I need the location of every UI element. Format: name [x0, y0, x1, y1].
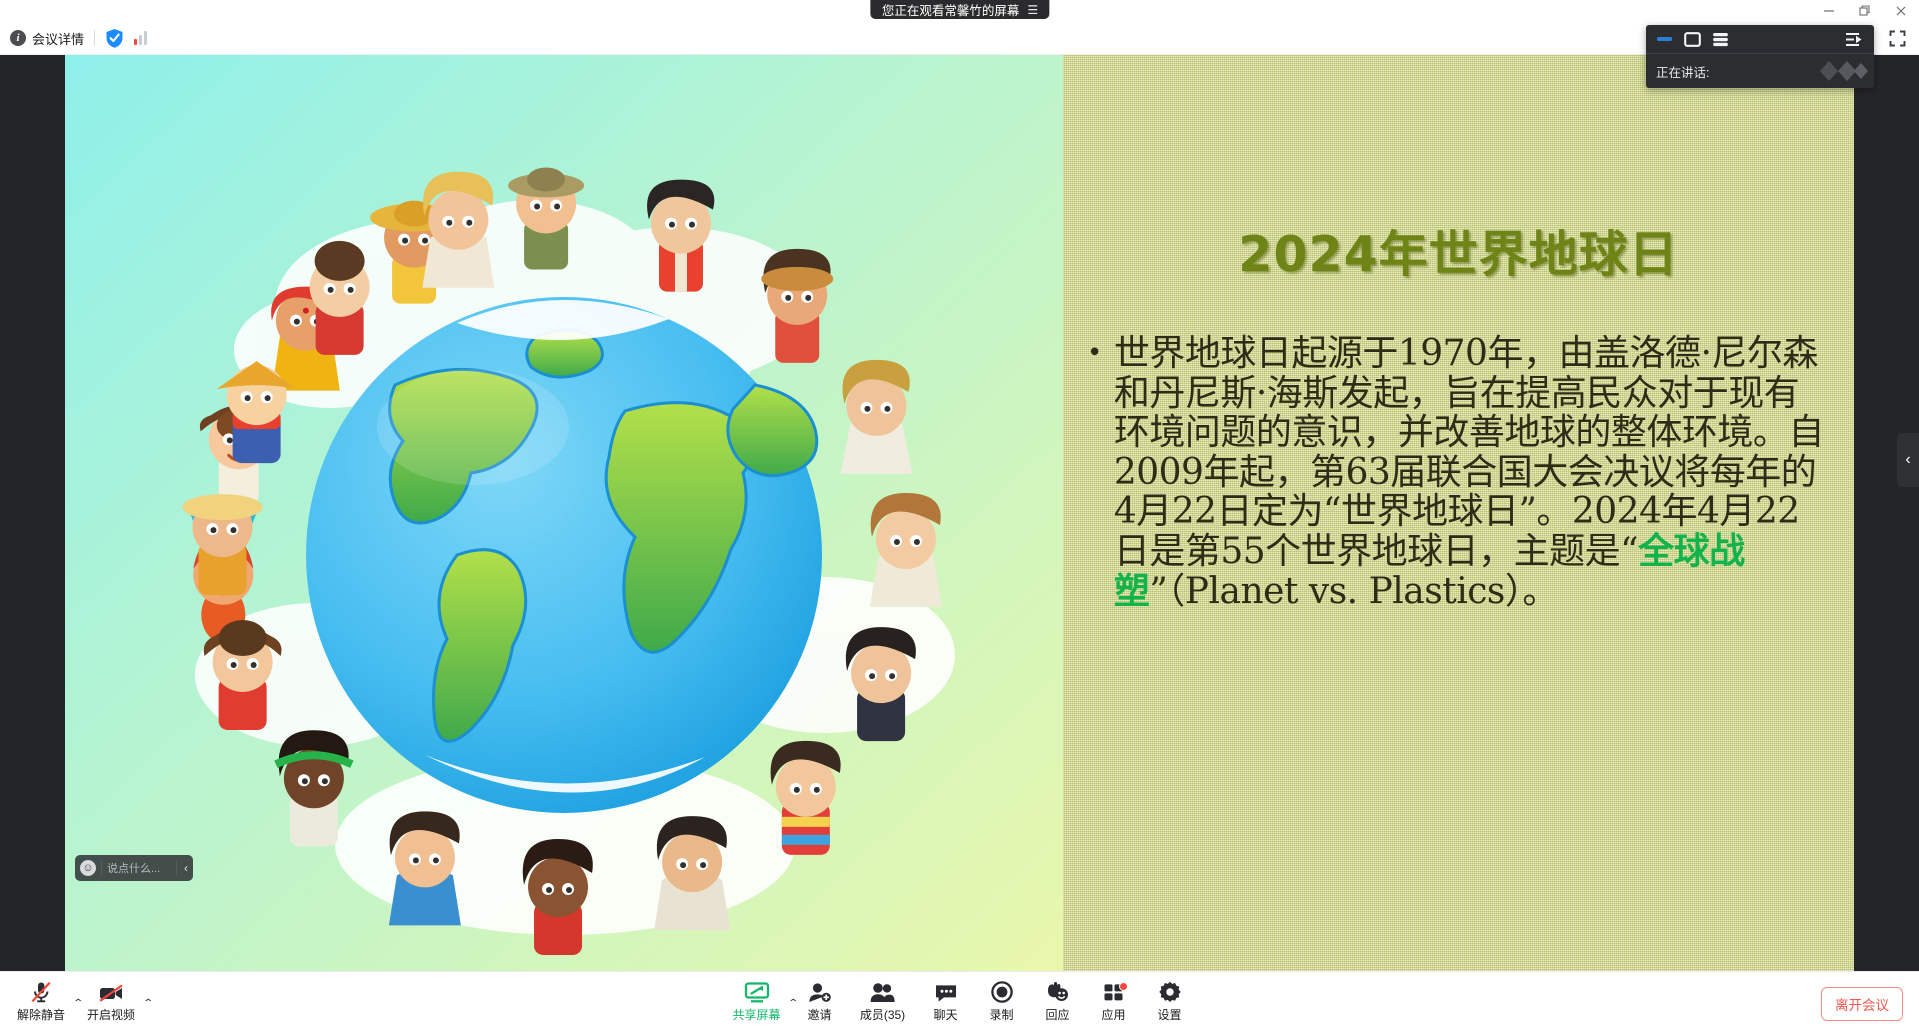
collapse-panel-icon[interactable] [1845, 32, 1864, 47]
floating-video-panel[interactable]: 正在讲话: [1646, 25, 1874, 88]
signal-bars-icon[interactable] [134, 31, 147, 45]
slide-title: 2024年世界地球日 [1087, 215, 1830, 286]
divider [101, 861, 102, 875]
chat-bubble-icon [934, 981, 958, 1003]
divider [94, 30, 95, 46]
meeting-details-button[interactable]: i 会议详情 [10, 29, 84, 48]
watermark-icon [1816, 57, 1868, 86]
apps-label: 应用 [1101, 1006, 1125, 1023]
restore-icon [1859, 5, 1871, 17]
leave-meeting-button[interactable]: 离开会议 [1821, 987, 1903, 1021]
share-screen-button[interactable]: 共享屏幕 ⌃ [722, 972, 792, 1031]
meeting-stage: 2024年世界地球日 • 世界地球日起源于1970年，由盖洛德·尼尔森和丹尼斯·… [0, 55, 1919, 971]
minimize-icon[interactable] [1656, 32, 1673, 46]
zoom-meeting-window: 您正在观看常馨竹的屏幕 ☰ i 会议详情 [0, 0, 1919, 1031]
settings-button[interactable]: 设置 [1142, 972, 1198, 1031]
emoji-icon[interactable]: ☺ [80, 860, 96, 876]
minimize-icon [1823, 5, 1835, 17]
slide-body-text: 世界地球日起源于1970年，由盖洛德·尼尔森和丹尼斯·海斯发起，旨在提高民众对于… [1114, 334, 1830, 611]
invite-person-icon [808, 981, 832, 1003]
hamburger-menu-icon[interactable]: ☰ [1027, 3, 1037, 17]
children-around-globe-illustration [65, 55, 1063, 971]
close-button[interactable] [1883, 0, 1919, 22]
chat-input-placeholder[interactable]: 说点什么... [107, 860, 171, 876]
active-speaker-label: 正在讲话: [1656, 62, 1709, 81]
toolbar-left-group: 解除静音 ⌃ 开启视频 ⌃ [6, 972, 146, 1031]
reactions-label: 回应 [1045, 1006, 1069, 1023]
record-icon [991, 981, 1013, 1003]
collapse-composer-icon[interactable]: ‹ [182, 861, 188, 875]
divider [176, 861, 177, 875]
list-view-icon[interactable] [1712, 32, 1729, 47]
share-screen-icon [744, 981, 770, 1003]
slide-bullet-item: • 世界地球日起源于1970年，由盖洛德·尼尔森和丹尼斯·海斯发起，旨在提高民众… [1087, 334, 1830, 611]
chat-composer[interactable]: ☺ 说点什么... ‹ [75, 855, 193, 881]
slide-text-panel: 2024年世界地球日 • 世界地球日起源于1970年，由盖洛德·尼尔森和丹尼斯·… [1063, 55, 1854, 971]
gear-icon [1159, 981, 1181, 1003]
apps-button[interactable]: 应用 [1086, 972, 1142, 1031]
participants-icon [870, 981, 895, 1003]
close-icon [1895, 5, 1907, 17]
video-options-caret[interactable]: ⌃ [142, 998, 154, 1009]
record-button[interactable]: 录制 [974, 972, 1030, 1031]
invite-label: 邀请 [807, 1006, 831, 1023]
meeting-toolbar: 解除静音 ⌃ 开启视频 ⌃ [0, 971, 1919, 1031]
meeting-info-bar: i 会议详情 [0, 22, 1919, 55]
participants-label: 成员(35) [860, 1006, 905, 1023]
chat-label: 聊天 [933, 1006, 957, 1023]
window-title-bar: 您正在观看常馨竹的屏幕 ☰ [0, 0, 1919, 22]
bullet-glyph: • [1087, 334, 1102, 611]
window-controls [1811, 0, 1919, 22]
slide-body-part2: ”（Planet vs. Plastics）。 [1149, 571, 1558, 612]
screen-share-banner-text: 您正在观看常馨竹的屏幕 [882, 0, 1020, 19]
start-video-label: 开启视频 [87, 1006, 135, 1023]
fullscreen-icon [1889, 30, 1906, 47]
apps-notification-badge [1119, 982, 1128, 991]
fullscreen-button[interactable] [1883, 24, 1911, 52]
settings-label: 设置 [1157, 1006, 1181, 1023]
chat-button[interactable]: 聊天 [918, 972, 974, 1031]
collapse-sidebar-handle[interactable]: ‹ [1897, 433, 1919, 487]
active-speaker-row: 正在讲话: [1646, 54, 1874, 88]
invite-button[interactable]: 邀请 [792, 972, 848, 1031]
window-icon[interactable] [1684, 32, 1701, 47]
camera-muted-icon [98, 981, 125, 1003]
info-icon: i [10, 30, 26, 46]
reactions-icon [1045, 981, 1070, 1003]
reactions-button[interactable]: 回应 [1030, 972, 1086, 1031]
unmute-label: 解除静音 [17, 1006, 65, 1023]
share-screen-label: 共享屏幕 [732, 1006, 780, 1023]
microphone-muted-icon [29, 981, 53, 1003]
meeting-details-label: 会议详情 [32, 29, 84, 48]
minimize-button[interactable] [1811, 0, 1847, 22]
unmute-button[interactable]: 解除静音 ⌃ [6, 972, 76, 1031]
participants-button[interactable]: 成员(35) [848, 972, 918, 1031]
shield-check-icon[interactable] [105, 28, 124, 49]
start-video-button[interactable]: 开启视频 ⌃ [76, 972, 146, 1031]
restore-button[interactable] [1847, 0, 1883, 22]
record-label: 录制 [989, 1006, 1013, 1023]
toolbar-center-group: 共享屏幕 ⌃ 邀请 [722, 972, 1198, 1031]
shared-screen-content[interactable]: 2024年世界地球日 • 世界地球日起源于1970年，由盖洛德·尼尔森和丹尼斯·… [65, 55, 1854, 971]
screen-share-banner: 您正在观看常馨竹的屏幕 ☰ [870, 0, 1049, 19]
floating-panel-toolbar [1646, 25, 1874, 54]
